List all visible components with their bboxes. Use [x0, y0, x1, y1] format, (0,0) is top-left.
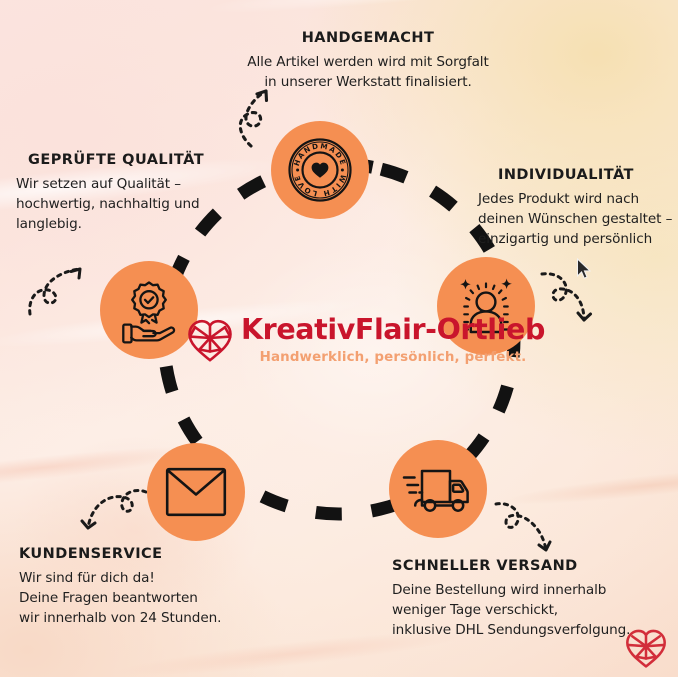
feature-circle-handgemacht[interactable]: HANDMADE WITH LOVE	[271, 121, 369, 219]
infographic-canvas: HANDMADE WITH LOVE	[0, 0, 678, 677]
hand-holding-award-badge-icon	[115, 276, 183, 344]
feature-text-schneller-versand: SCHNELLER VERSAND Deine Bestellung wird …	[392, 559, 662, 640]
feature-text-kundenservice: KUNDENSERVICE Wir sind für dich da! Dein…	[19, 547, 259, 628]
feature-body-handgemacht: Alle Artikel werden wird mit Sorgfalt in…	[223, 52, 513, 92]
feature-circle-geprüfte-qualitaet[interactable]	[100, 261, 198, 359]
feature-title-geprüfte-qualitaet: GEPRÜFTE QUALITÄT	[16, 153, 251, 169]
feature-circle-schneller-versand[interactable]	[389, 440, 487, 538]
feature-title-handgemacht: HANDGEMACHT	[223, 31, 513, 47]
feature-text-geprüfte-qualitaet: GEPRÜFTE QUALITÄT Wir setzen auf Qualitä…	[16, 153, 251, 234]
feature-body-geprüfte-qualitaet: Wir setzen auf Qualität – hochwertig, na…	[16, 174, 251, 234]
envelope-icon	[165, 467, 227, 517]
feature-title-individualitaet: INDIVIDUALITÄT	[478, 168, 678, 184]
feature-circle-kundenservice[interactable]	[147, 443, 245, 541]
feature-text-individualitaet: INDIVIDUALITÄT Jedes Produkt wird nach d…	[478, 168, 678, 249]
feature-body-individualitaet: Jedes Produkt wird nach deinen Wünschen …	[478, 189, 678, 249]
feature-body-kundenservice: Wir sind für dich da! Deine Fragen beant…	[19, 568, 259, 628]
brand-tagline: Handwerklich, persönlich, perfekt.	[241, 350, 545, 365]
feature-body-schneller-versand: Deine Bestellung wird innerhalb weniger …	[392, 580, 662, 640]
geometric-heart-icon	[186, 318, 234, 363]
badge-top-text: HANDMADE	[292, 141, 348, 167]
geometric-heart-watermark-icon	[624, 628, 668, 669]
handmade-with-love-stamp-icon: HANDMADE WITH LOVE	[284, 134, 356, 206]
feature-title-kundenservice: KUNDENSERVICE	[19, 547, 259, 563]
brand-name: KreativFlair-Ortlieb	[241, 316, 545, 345]
feature-title-schneller-versand: SCHNELLER VERSAND	[392, 559, 662, 575]
brand-logo[interactable]: KreativFlair-Ortlieb Handwerklich, persö…	[186, 316, 545, 365]
feature-text-handgemacht: HANDGEMACHT Alle Artikel werden wird mit…	[223, 31, 513, 92]
svg-text:HANDMADE: HANDMADE	[292, 141, 348, 167]
delivery-truck-icon	[400, 459, 476, 519]
